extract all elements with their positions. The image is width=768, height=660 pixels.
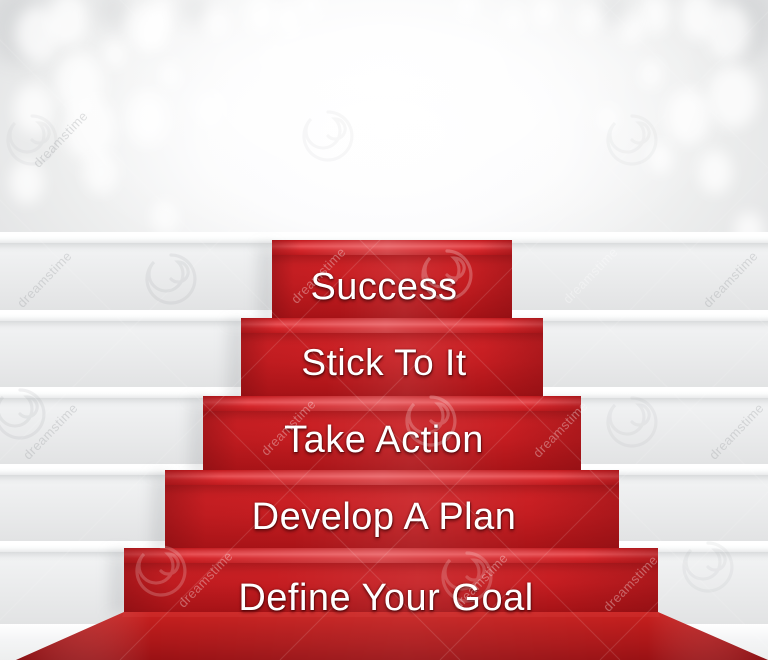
step-label-success: Success (0, 268, 768, 306)
step-label-define-your-goal: Define Your Goal (4, 579, 768, 617)
red-carpet (0, 0, 768, 660)
step-label-stick-to-it: Stick To It (0, 344, 768, 381)
carpet-floor-runner (0, 612, 768, 660)
stock-photo-canvas: Success Stick To It Take Action Develop … (0, 0, 768, 660)
step-label-take-action: Take Action (0, 421, 768, 459)
step-label-develop-a-plan: Develop A Plan (0, 498, 768, 536)
